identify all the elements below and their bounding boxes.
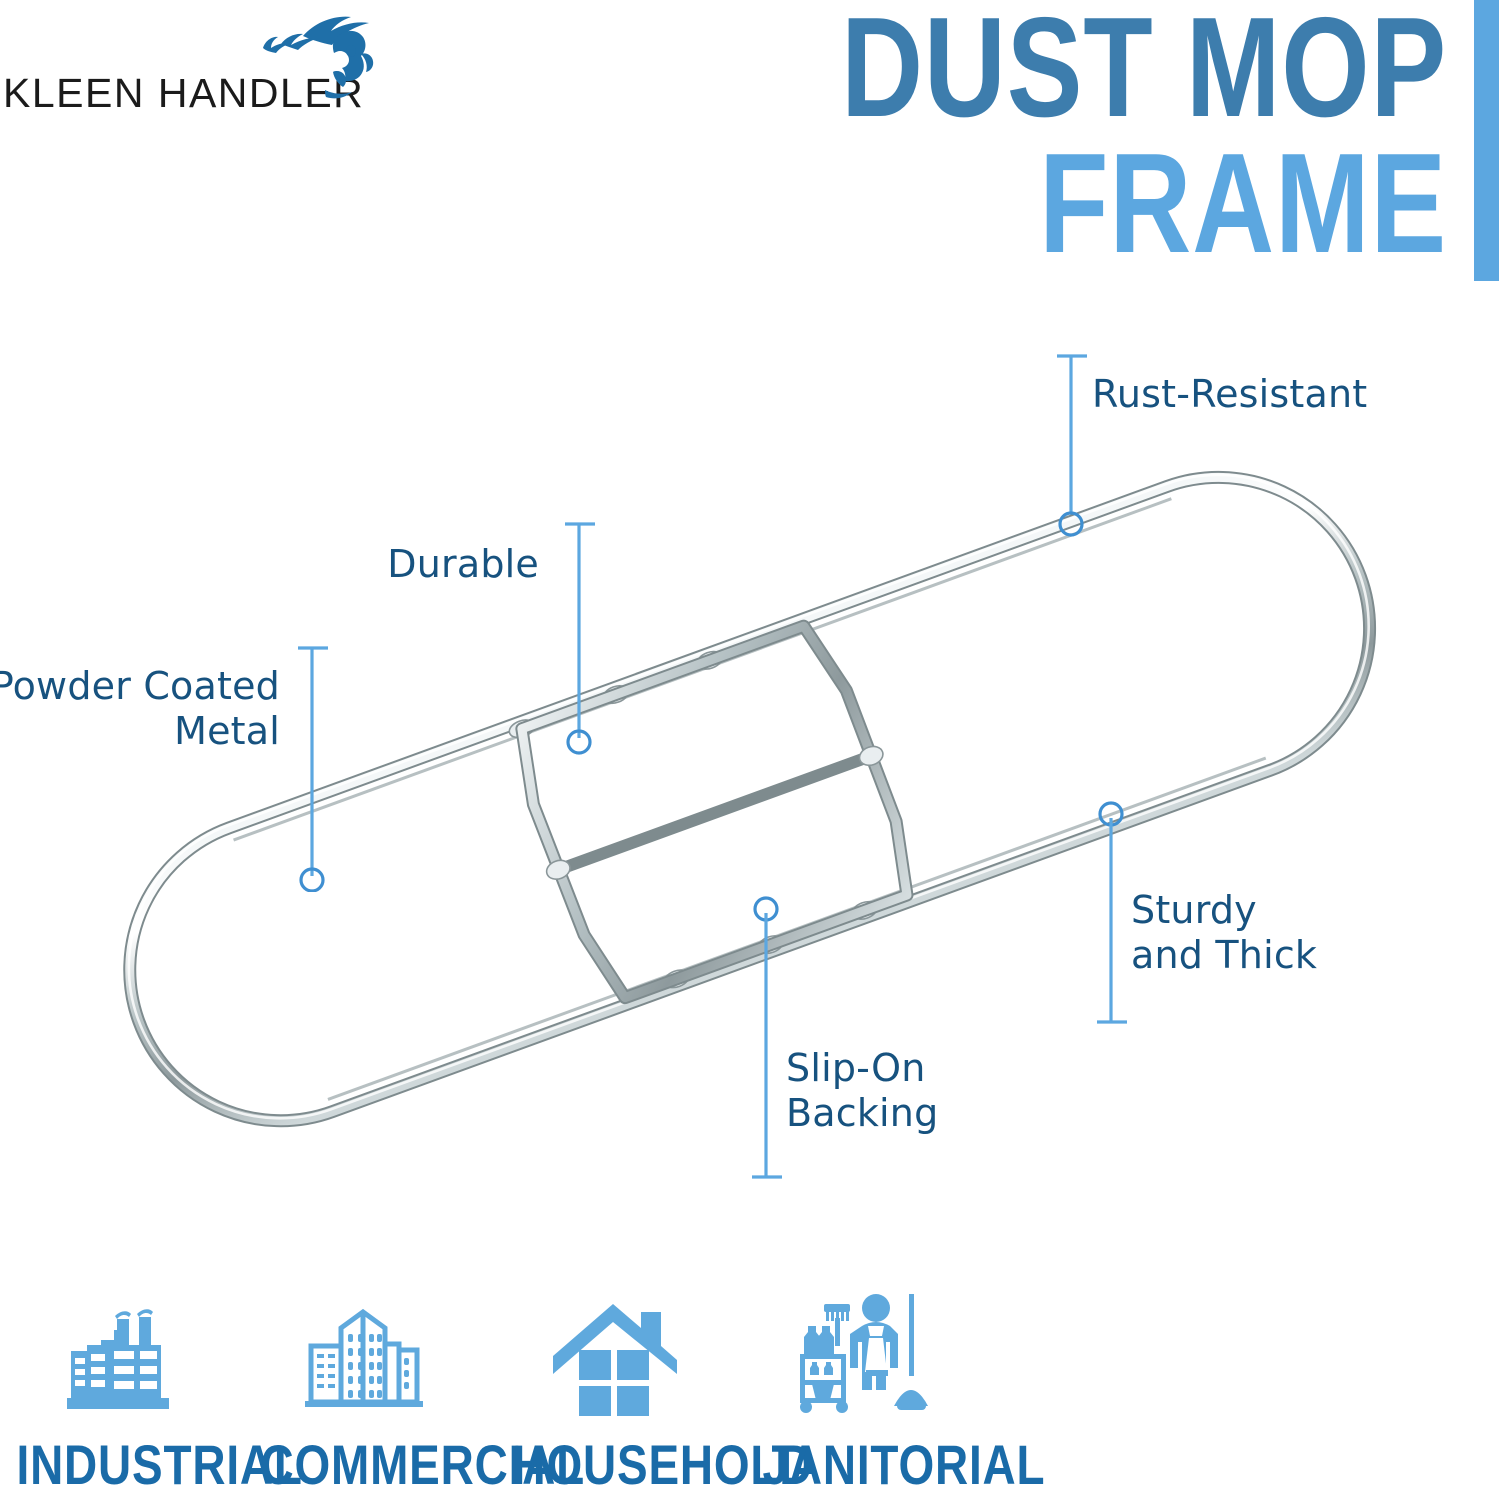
infographic-canvas: KLEEN HANDLER DUST MOP FRAME	[0, 0, 1499, 1500]
use-case-label-janitorial: JANITORIAL	[763, 1432, 968, 1497]
use-case-row: INDUSTRIAL	[0, 1286, 1030, 1500]
use-case-label-commercial: COMMERCIAL	[261, 1432, 466, 1497]
use-case-commercial: COMMERCIAL	[238, 1286, 488, 1497]
factory-icon	[0, 1286, 244, 1416]
use-case-label-household: HOUSEHOLD	[513, 1432, 718, 1497]
callout-label-slip-on-backing: Slip-On Backing	[786, 1046, 1206, 1136]
callout-label-sturdy-and-thick: Sturdy and Thick	[1131, 888, 1499, 978]
callout-label-durable: Durable	[119, 542, 539, 587]
buffalo-logo-icon	[255, 14, 375, 104]
office-buildings-icon	[238, 1286, 488, 1416]
title-line-2: FRAME	[727, 138, 1447, 270]
callout-leader-line	[1055, 348, 1089, 540]
use-case-janitorial: JANITORIAL	[740, 1286, 990, 1497]
brand-logo: KLEEN HANDLER	[0, 8, 420, 128]
callout-leader-line	[563, 516, 597, 766]
callout-leader-line	[750, 895, 784, 1187]
callout-leader-line	[1095, 800, 1129, 1032]
house-icon	[490, 1286, 740, 1416]
title-line-1: DUST MOP	[727, 2, 1447, 134]
callout-label-powder-coated-metal: Powder Coated Metal	[0, 664, 280, 754]
callout-label-rust-resistant: Rust-Resistant	[1092, 372, 1499, 417]
accent-bar	[1474, 0, 1499, 281]
use-case-label-industrial: INDUSTRIAL	[17, 1432, 222, 1497]
callout-leader-line	[296, 640, 330, 892]
janitor-cart-icon	[740, 1286, 990, 1416]
use-case-household: HOUSEHOLD	[490, 1286, 740, 1497]
use-case-industrial: INDUSTRIAL	[0, 1286, 244, 1497]
page-title: DUST MOP FRAME	[547, 2, 1447, 270]
